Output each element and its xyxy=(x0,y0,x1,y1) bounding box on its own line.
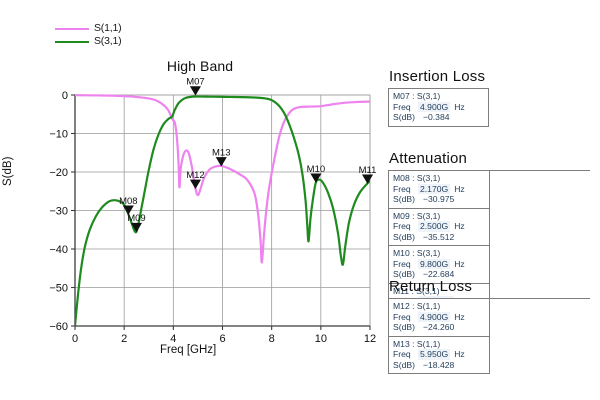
marker-m08[interactable]: M08 xyxy=(119,196,137,215)
marker-freq-value: 4.900G xyxy=(418,102,450,113)
marker-readout-head: M07 : S(3,1) xyxy=(393,91,485,102)
marker-db-row: S(dB) −0.384 xyxy=(393,112,485,123)
marker-readout-head: M12 : S(1,1) xyxy=(393,301,486,312)
marker-db-key: S(dB) xyxy=(393,232,423,243)
legend-swatch-s31 xyxy=(55,41,89,43)
marker-readout-head: M10 : S(3,1) xyxy=(393,248,486,259)
marker-freq-key: Freq xyxy=(393,102,418,113)
marker-label: M08 xyxy=(119,196,137,207)
svg-text:10: 10 xyxy=(315,333,327,345)
chart-markers: M07M08M09M10M11M12M13 xyxy=(119,77,376,232)
marker-db-row: S(dB) −24.260 xyxy=(393,322,486,333)
marker-triangle-icon xyxy=(216,157,226,166)
y-axis-title: S(dB) xyxy=(2,157,14,186)
svg-text:−50: −50 xyxy=(49,283,68,295)
marker-freq-row: Freq5.950GHz xyxy=(393,349,486,360)
marker-freq-value: 5.950G xyxy=(418,349,450,360)
chart-title: High Band xyxy=(140,58,260,74)
marker-db-value: −30.975 xyxy=(423,194,454,205)
svg-text:0: 0 xyxy=(62,90,68,102)
chart-legend: S(1,1) S(3,1) xyxy=(55,22,121,48)
section-title: Return Loss xyxy=(389,278,598,295)
svg-text:12: 12 xyxy=(364,333,376,345)
marker-readout-head: M13 : S(1,1) xyxy=(393,339,486,350)
marker-db-key: S(dB) xyxy=(393,194,423,205)
svg-text:0: 0 xyxy=(72,333,78,345)
marker-freq-unit: Hz xyxy=(454,259,465,270)
marker-triangle-icon xyxy=(311,174,321,183)
marker-db-key: S(dB) xyxy=(393,360,423,371)
marker-db-value: −35.512 xyxy=(423,232,454,243)
marker-freq-unit: Hz xyxy=(454,349,465,360)
legend-item-s11[interactable]: S(1,1) xyxy=(55,22,121,35)
svg-text:−10: −10 xyxy=(49,129,68,141)
marker-triangle-icon xyxy=(363,175,373,184)
x-axis-title: Freq [GHz] xyxy=(160,344,216,356)
marker-readout-cell[interactable]: M12 : S(1,1)Freq4.900GHzS(dB) −24.260 xyxy=(389,299,490,337)
marker-label: M07 xyxy=(186,77,204,88)
marker-triangle-icon xyxy=(190,180,200,189)
marker-db-value: −0.384 xyxy=(423,112,450,123)
svg-text:−20: −20 xyxy=(49,167,68,179)
section-title: Attenuation xyxy=(389,150,598,167)
readout-section-return-loss: Return LossM12 : S(1,1)Freq4.900GHzS(dB)… xyxy=(388,278,598,374)
marker-table: M07 : S(3,1)Freq4.900GHzS(dB) −0.384 xyxy=(388,88,489,127)
marker-freq-unit: Hz xyxy=(454,102,465,113)
marker-freq-value: 2.170G xyxy=(418,184,450,195)
marker-m07[interactable]: M07 xyxy=(186,77,204,96)
svg-text:2: 2 xyxy=(121,333,127,345)
legend-label-s31: S(3,1) xyxy=(94,35,121,48)
marker-freq-key: Freq xyxy=(393,184,418,195)
marker-readout-cell[interactable]: M09 : S(3,1)Freq2.500GHzS(dB) −35.512 xyxy=(389,209,490,247)
marker-freq-row: Freq2.170GHz xyxy=(393,184,486,195)
svg-text:−60: −60 xyxy=(49,321,68,333)
marker-readout-cell[interactable]: M13 : S(1,1)Freq5.950GHzS(dB) −18.428 xyxy=(389,337,490,375)
chart-gridlines xyxy=(75,95,370,326)
marker-m13[interactable]: M13 xyxy=(212,147,230,166)
marker-label: M09 xyxy=(127,213,145,224)
marker-db-value: −24.260 xyxy=(423,322,454,333)
marker-freq-unit: Hz xyxy=(454,312,465,323)
readout-section-insertion-loss: Insertion LossM07 : S(3,1)Freq4.900GHzS(… xyxy=(388,68,598,127)
chart-panel: 0246810120−10−20−30−40−50−60M07M08M09M10… xyxy=(0,0,385,400)
legend-item-s31[interactable]: S(3,1) xyxy=(55,35,121,48)
marker-label: M13 xyxy=(212,147,230,158)
marker-freq-key: Freq xyxy=(393,221,418,232)
marker-m11[interactable]: M11 xyxy=(359,165,377,184)
sparameter-plot-screen: 0246810120−10−20−30−40−50−60M07M08M09M10… xyxy=(0,0,600,400)
marker-freq-unit: Hz xyxy=(454,184,465,195)
marker-db-row: S(dB) −30.975 xyxy=(393,194,486,205)
marker-readout-cell[interactable]: M08 : S(3,1)Freq2.170GHzS(dB) −30.975 xyxy=(389,171,490,209)
legend-swatch-s11 xyxy=(55,28,89,30)
marker-label: M12 xyxy=(186,170,204,181)
svg-text:8: 8 xyxy=(269,333,275,345)
marker-db-row: S(dB) −35.512 xyxy=(393,232,486,243)
marker-freq-row: Freq2.500GHz xyxy=(393,221,486,232)
marker-freq-key: Freq xyxy=(393,259,418,270)
svg-text:−40: −40 xyxy=(49,244,68,256)
marker-freq-row: Freq4.900GHz xyxy=(393,312,486,323)
marker-db-row: S(dB) −18.428 xyxy=(393,360,486,371)
marker-readout-head: M09 : S(3,1) xyxy=(393,211,486,222)
marker-db-key: S(dB) xyxy=(393,322,423,333)
marker-freq-value: 9.800G xyxy=(418,259,450,270)
axis-tick-labels: 0246810120−10−20−30−40−50−60 xyxy=(49,90,376,345)
marker-freq-row: Freq4.900GHz xyxy=(393,102,485,113)
section-title: Insertion Loss xyxy=(389,68,598,85)
marker-freq-key: Freq xyxy=(393,312,418,323)
svg-text:6: 6 xyxy=(219,333,225,345)
marker-freq-row: Freq9.800GHz xyxy=(393,259,486,270)
legend-label-s11: S(1,1) xyxy=(94,22,121,35)
marker-table: M12 : S(1,1)Freq4.900GHzS(dB) −24.260M13… xyxy=(388,298,590,374)
svg-text:−30: −30 xyxy=(49,206,68,218)
marker-m10[interactable]: M10 xyxy=(307,164,325,183)
marker-freq-value: 2.500G xyxy=(418,221,450,232)
marker-label: M11 xyxy=(359,165,377,176)
marker-label: M10 xyxy=(307,164,325,175)
marker-freq-value: 4.900G xyxy=(418,312,450,323)
marker-readout-cell[interactable]: M07 : S(3,1)Freq4.900GHzS(dB) −0.384 xyxy=(389,89,489,127)
marker-m09[interactable]: M09 xyxy=(127,213,145,232)
marker-db-value: −18.428 xyxy=(423,360,454,371)
marker-db-key: S(dB) xyxy=(393,112,423,123)
marker-freq-unit: Hz xyxy=(454,221,465,232)
marker-readout-panel: Insertion LossM07 : S(3,1)Freq4.900GHzS(… xyxy=(386,0,600,400)
marker-readout-head: M08 : S(3,1) xyxy=(393,173,486,184)
marker-triangle-icon xyxy=(190,87,200,96)
marker-freq-key: Freq xyxy=(393,349,418,360)
